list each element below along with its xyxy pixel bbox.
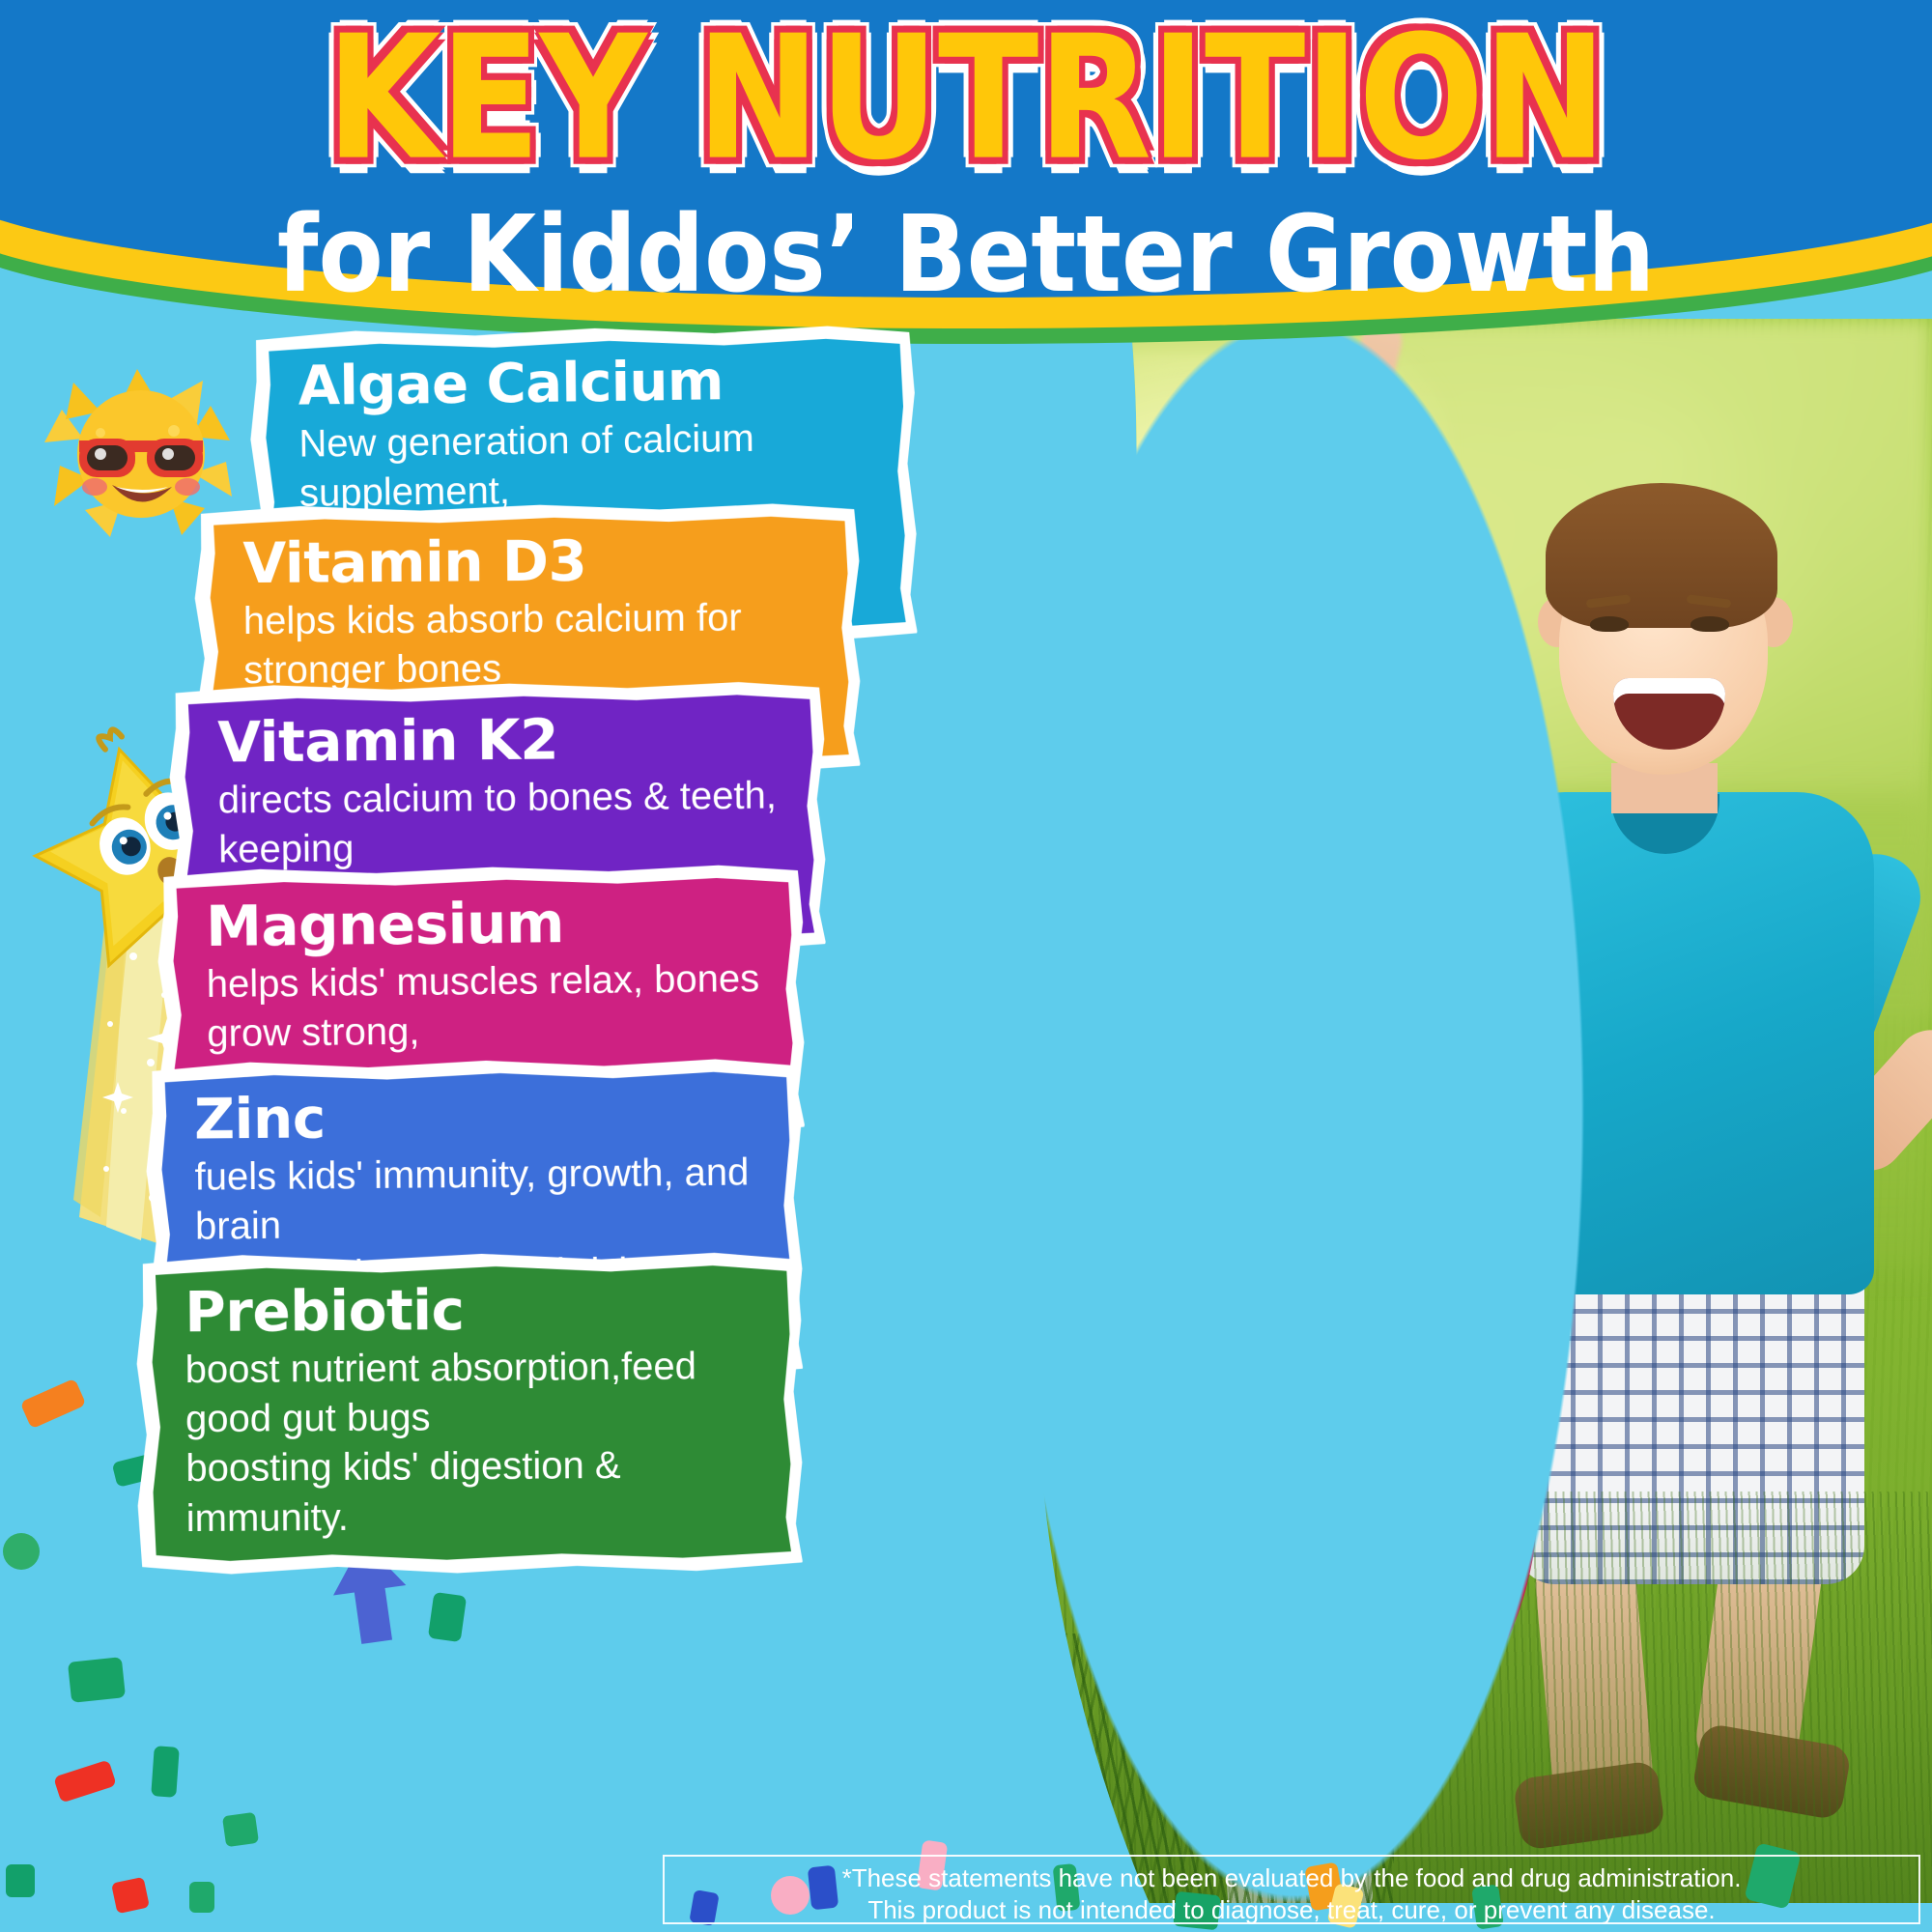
card-body-line-1: boost nutrient absorption,feed good gut … bbox=[185, 1342, 766, 1445]
confetti-green-tag bbox=[428, 1592, 467, 1642]
card-title: Vitamin K2 bbox=[217, 706, 788, 774]
card-title: Magnesium bbox=[206, 890, 767, 958]
card-body-line-2: boosting kids' digestion & immunity. bbox=[185, 1440, 766, 1544]
infographic-canvas: KEY NUTRITION for Kiddos’ Better Growth bbox=[0, 0, 1932, 1932]
disclaimer-box: *These statements have not been evaluate… bbox=[663, 1855, 1920, 1924]
card-body-line-1: helps kids absorb calcium for stronger b… bbox=[243, 593, 824, 696]
kids-photo bbox=[1005, 319, 1932, 1903]
page-title: KEY NUTRITION bbox=[0, 14, 1932, 185]
card-body-line-1: helps kids' muscles relax, bones grow st… bbox=[207, 954, 768, 1059]
card-title: Algae Calcium bbox=[298, 350, 878, 417]
disclaimer-line-2: This product is not intended to diagnose… bbox=[674, 1894, 1909, 1926]
disclaimer-line-1: *These statements have not been evaluate… bbox=[674, 1862, 1909, 1894]
nutrient-card-prebiotic[interactable]: Prebiotic boost nutrient absorption,feed… bbox=[152, 1264, 791, 1563]
card-body-line-1: directs calcium to bones & teeth, keepin… bbox=[218, 771, 789, 875]
card-title: Zinc bbox=[194, 1083, 765, 1151]
card-title: Vitamin D3 bbox=[242, 528, 822, 595]
header-banner: KEY NUTRITION for Kiddos’ Better Growth bbox=[0, 0, 1932, 348]
card-title: Prebiotic bbox=[185, 1277, 764, 1344]
card-body-line-1: fuels kids' immunity, growth, and brain bbox=[194, 1148, 765, 1252]
card-body-line-1: New generation of calcium supplement, bbox=[298, 412, 879, 519]
page-subtitle: for Kiddos’ Better Growth bbox=[0, 193, 1932, 317]
